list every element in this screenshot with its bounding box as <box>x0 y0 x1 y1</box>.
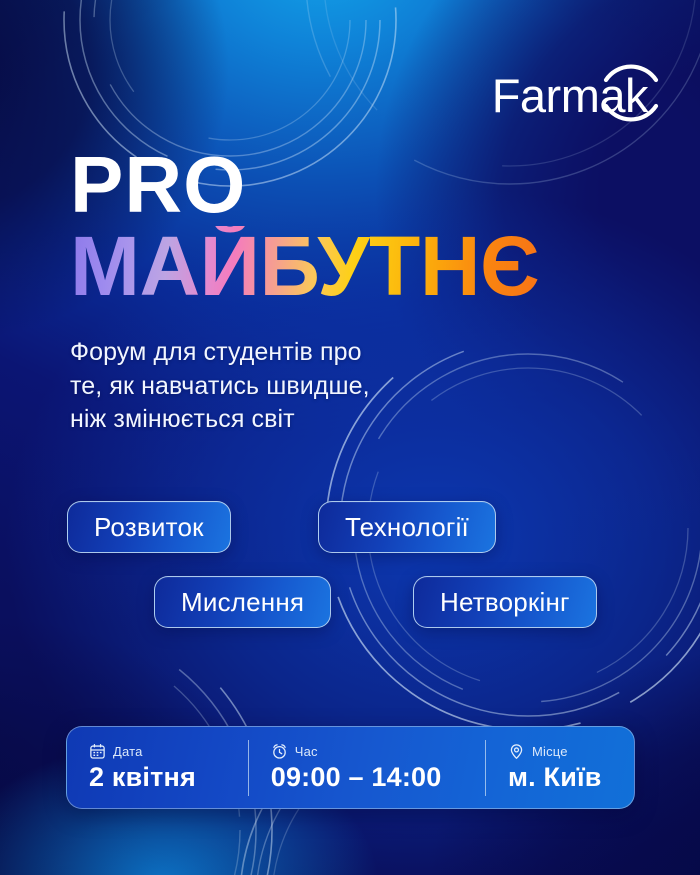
info-time-label: Час <box>295 744 318 759</box>
topic-tag-tekhnolohii[interactable]: Технології <box>318 501 496 553</box>
info-time-value: 09:00 – 14:00 <box>271 763 463 791</box>
info-date-value: 2 квітня <box>89 763 226 791</box>
info-date-header: Дата <box>89 743 226 760</box>
farmak-logo: Farmak <box>492 62 648 128</box>
promo-poster: Farmak PRO МАЙБУТНЄ Форум для студентів … <box>0 0 700 875</box>
alarm-clock-icon <box>271 743 288 760</box>
location-pin-icon <box>508 743 525 760</box>
topic-tag-netvorkinh[interactable]: Нетворкінг <box>413 576 597 628</box>
topic-tag-rozvytok[interactable]: Розвиток <box>67 501 231 553</box>
logo-wordmark: Farmak <box>492 72 648 119</box>
subtitle-line-2: те, як навчатись швидше, <box>70 370 370 404</box>
event-info-bar: Дата 2 квітня Час 09:00 – 14:00 <box>66 726 635 809</box>
info-time-header: Час <box>271 743 463 760</box>
info-place-value: м. Київ <box>508 763 612 791</box>
info-cell-date: Дата 2 квітня <box>67 727 248 808</box>
subtitle-line-3: ніж змінюється світ <box>70 403 370 437</box>
headline-line-future: МАЙБУТНЄ <box>70 226 539 307</box>
info-cell-place: Місце м. Київ <box>486 727 634 808</box>
info-cell-time: Час 09:00 – 14:00 <box>249 727 485 808</box>
subtitle-block: Форум для студентів про те, як навчатись… <box>70 336 370 437</box>
calendar-icon <box>89 743 106 760</box>
headline-block: PRO МАЙБУТНЄ <box>70 148 539 306</box>
subtitle-line-1: Форум для студентів про <box>70 336 370 370</box>
info-place-header: Місце <box>508 743 612 760</box>
info-place-label: Місце <box>532 744 568 759</box>
headline-line-pro: PRO <box>70 148 539 222</box>
topic-tag-myslennia[interactable]: Мислення <box>154 576 331 628</box>
info-date-label: Дата <box>113 744 143 759</box>
